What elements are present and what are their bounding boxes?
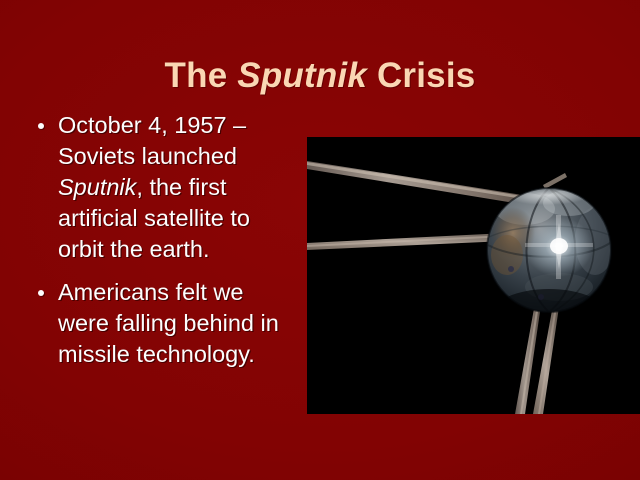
picture-frame	[307, 137, 640, 414]
bullet-prefix: October 4, 1957 – Soviets launched	[58, 112, 246, 169]
bullet-list: October 4, 1957 – Soviets launched Sputn…	[22, 110, 300, 370]
bullet-prefix: Americans felt we were falling behind in…	[58, 279, 279, 367]
list-item-text: Americans felt we were falling behind in…	[58, 279, 279, 367]
bullet-dot-icon	[38, 290, 44, 296]
list-item-text: October 4, 1957 – Soviets launched Sputn…	[58, 112, 250, 262]
list-item: Americans felt we were falling behind in…	[22, 277, 300, 370]
title-area: The Sputnik Crisis	[0, 32, 640, 121]
page-title: The Sputnik Crisis	[165, 55, 476, 97]
list-item: October 4, 1957 – Soviets launched Sputn…	[22, 110, 300, 265]
title-emphasis: Sputnik	[237, 56, 367, 95]
bullet-emphasis: Sputnik	[58, 174, 136, 200]
bullet-dot-icon	[38, 123, 44, 129]
sputnik-1-satellite-photo	[307, 137, 640, 414]
presentation-slide: The Sputnik Crisis October 4, 1957 – Sov…	[0, 0, 640, 480]
title-prefix: The	[165, 56, 238, 95]
title-suffix: Crisis	[367, 56, 475, 95]
